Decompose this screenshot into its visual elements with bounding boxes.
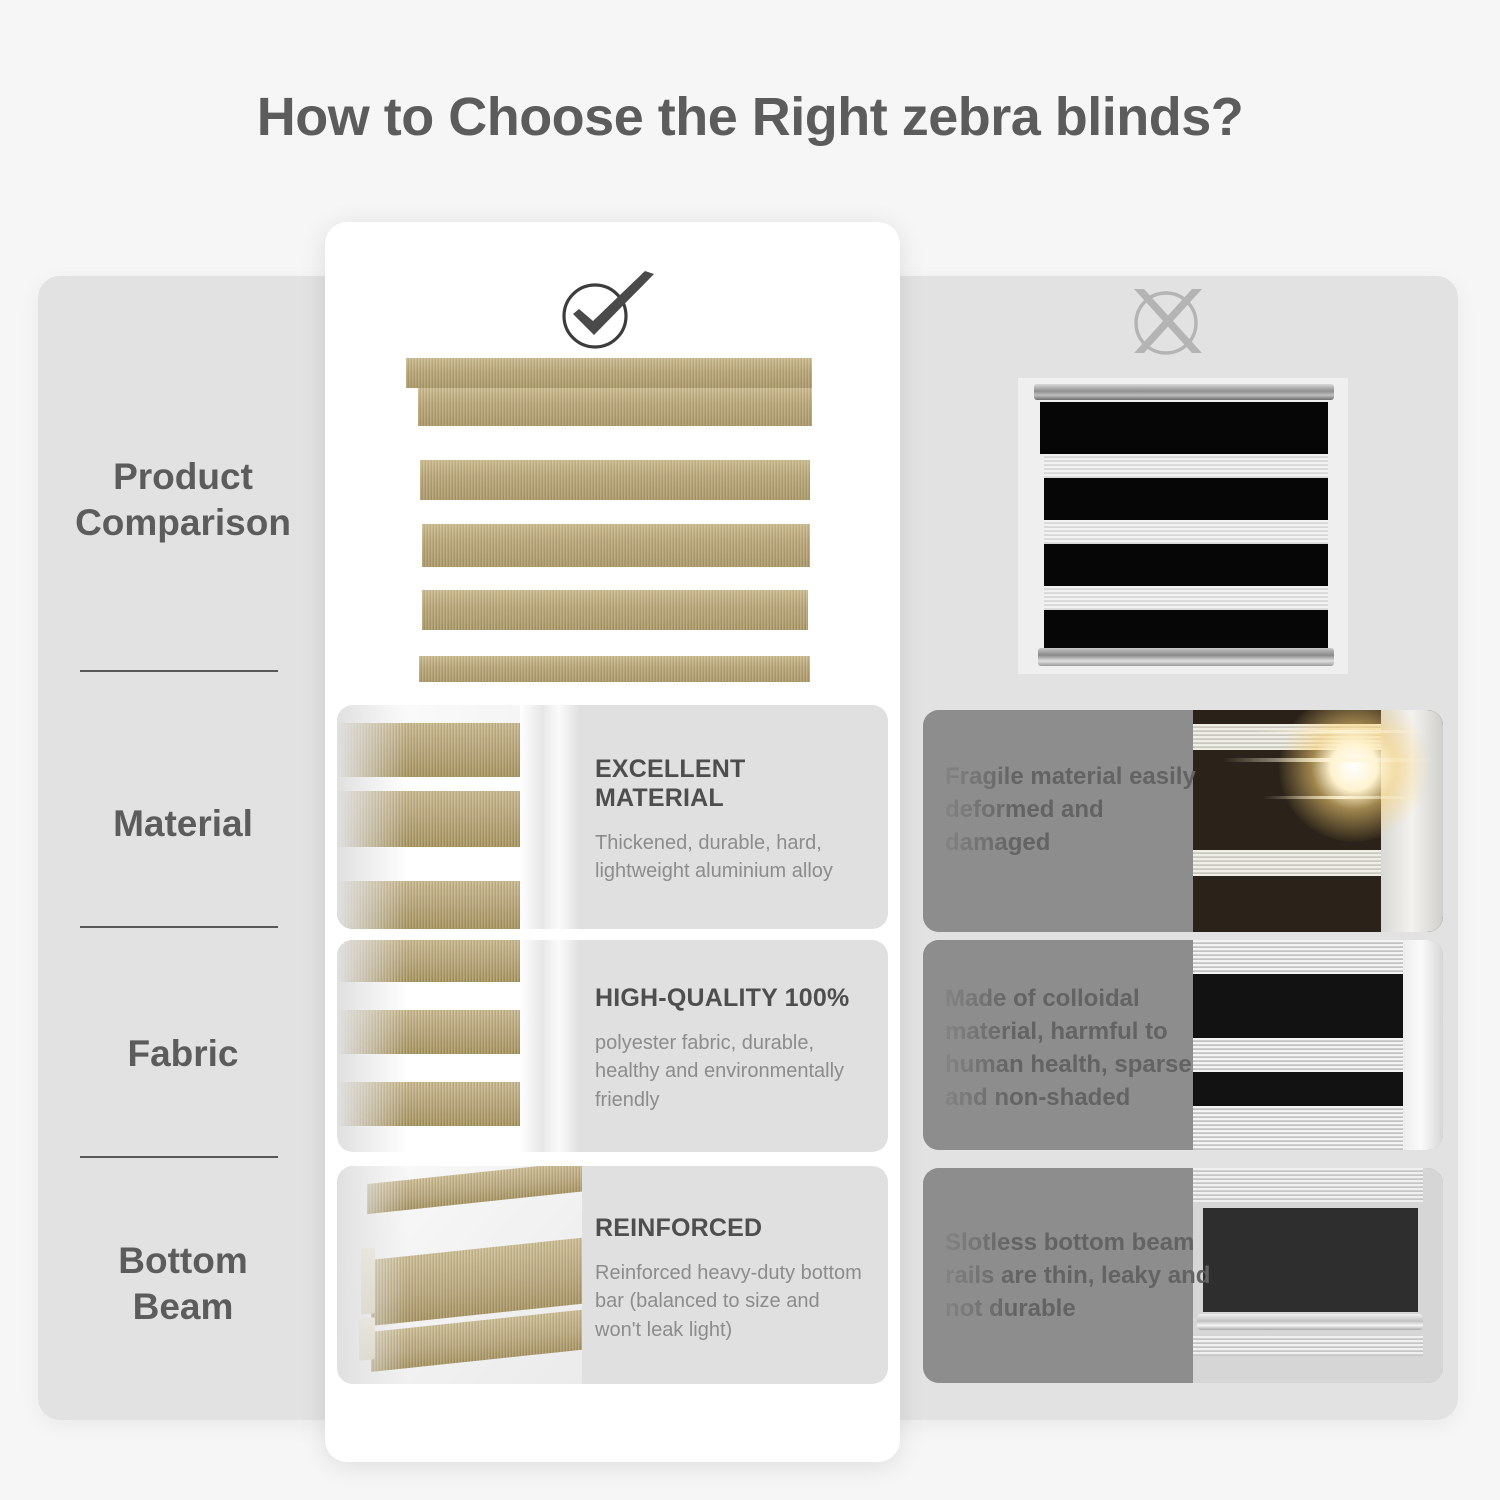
bad-feature-fabric-text: Made of colloidal material, harmful to h… <box>945 982 1215 1114</box>
feature-title: HIGH-QUALITY 100% <box>595 984 870 1013</box>
feature-description: Reinforced heavy-duty bottom bar (balanc… <box>595 1259 870 1344</box>
good-feature-fabric: HIGH-QUALITY 100% polyester fabric, dura… <box>337 940 888 1152</box>
good-feature-bottom-beam-text: REINFORCED Reinforced heavy-duty bottom … <box>595 1214 870 1344</box>
sidebar-divider <box>80 926 278 928</box>
sidebar-label-line1: Product <box>38 454 328 500</box>
sidebar-label-line1: Fabric <box>38 1031 328 1077</box>
good-feature-material-image <box>337 705 582 929</box>
bad-hero-image <box>1018 378 1348 674</box>
bad-feature-material-image <box>1193 710 1443 932</box>
good-hero-image <box>406 358 812 696</box>
good-feature-bottom-beam: REINFORCED Reinforced heavy-duty bottom … <box>337 1166 888 1384</box>
sidebar-label-line1: Material <box>38 801 328 847</box>
sidebar-label-line1: Bottom <box>38 1238 328 1284</box>
criteria-sidebar: Product Comparison Material Fabric Botto… <box>38 276 328 1420</box>
check-circle-icon <box>553 268 663 353</box>
feature-description: polyester fabric, durable, healthy and e… <box>595 1029 870 1114</box>
sidebar-label-line2: Comparison <box>38 500 328 546</box>
page-title: How to Choose the Right zebra blinds? <box>0 86 1500 148</box>
sidebar-item-material: Material <box>38 801 328 847</box>
sidebar-label-line2: Beam <box>38 1284 328 1330</box>
good-feature-fabric-image <box>337 940 582 1152</box>
feature-title: REINFORCED <box>595 1214 870 1243</box>
good-feature-fabric-text: HIGH-QUALITY 100% polyester fabric, dura… <box>595 984 870 1114</box>
good-feature-material-text: EXCELLENT MATERIAL Thickened, durable, h… <box>595 755 870 886</box>
bad-feature-fabric: Made of colloidal material, harmful to h… <box>923 940 1443 1150</box>
good-feature-bottom-beam-image <box>337 1166 582 1384</box>
bad-feature-material-text: Fragile material easily deformed and dam… <box>945 760 1215 859</box>
bad-feature-bottom-beam: Slotless bottom beam rails are thin, lea… <box>923 1168 1443 1383</box>
good-feature-material: EXCELLENT MATERIAL Thickened, durable, h… <box>337 705 888 929</box>
bad-feature-material: Fragile material easily deformed and dam… <box>923 710 1443 932</box>
feature-title: EXCELLENT MATERIAL <box>595 755 870 813</box>
sidebar-item-product-comparison: Product Comparison <box>38 454 328 547</box>
sidebar-divider <box>80 670 278 672</box>
sidebar-item-bottom-beam: Bottom Beam <box>38 1238 328 1331</box>
bad-feature-bottom-beam-image <box>1193 1168 1443 1383</box>
bad-feature-bottom-beam-text: Slotless bottom beam rails are thin, lea… <box>945 1226 1215 1325</box>
bad-feature-fabric-image <box>1193 940 1443 1150</box>
sidebar-item-fabric: Fabric <box>38 1031 328 1077</box>
x-circle-icon <box>1120 283 1212 363</box>
feature-description: Thickened, durable, hard, lightweight al… <box>595 829 870 886</box>
sidebar-divider <box>80 1156 278 1158</box>
